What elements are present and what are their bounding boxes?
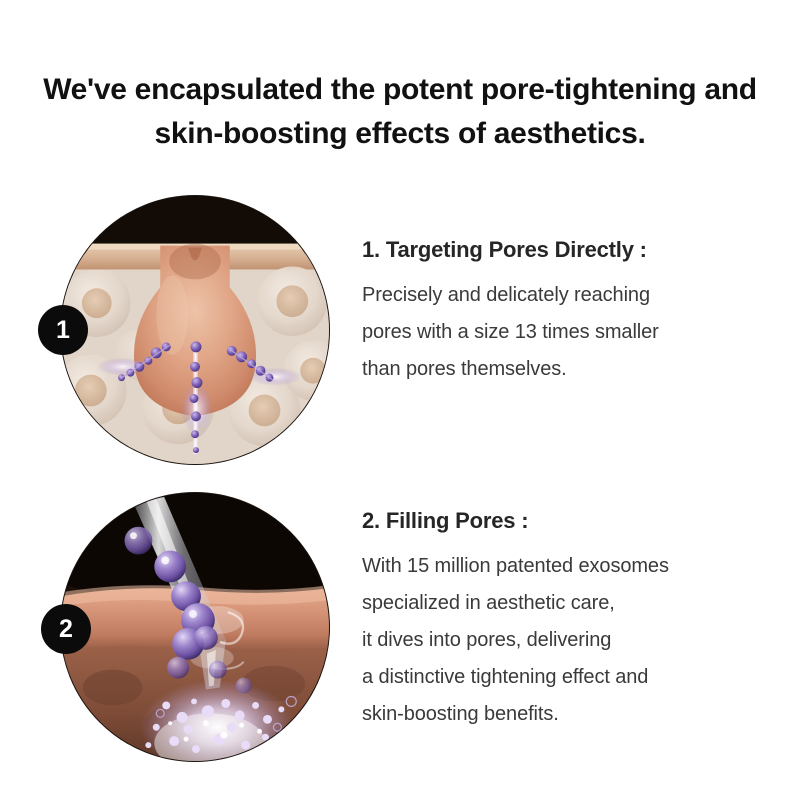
step-2-photo	[60, 492, 330, 762]
step-2-body-line-1: With 15 million patented exosomes	[362, 548, 782, 585]
pore-targeting-illustration	[61, 196, 329, 464]
step-1-media: 1	[60, 195, 332, 467]
step-1-photo	[60, 195, 330, 465]
step-2-body-line-4: a distinctive tightening effect and	[362, 659, 782, 696]
step-row-2: 2 2. Filling Pores : With 15 million pat…	[0, 492, 800, 767]
step-1-text: 1. Targeting Pores Directly : Precisely …	[362, 237, 782, 388]
step-1-body-line-1: Precisely and delicately reaching	[362, 277, 782, 314]
step-2-title: 2. Filling Pores :	[362, 508, 782, 534]
step-2-text: 2. Filling Pores : With 15 million paten…	[362, 508, 782, 733]
page-headline: We've encapsulated the potent pore-tight…	[0, 68, 800, 156]
headline-line-2: skin-boosting effects of aesthetics.	[0, 112, 800, 156]
step-1-body: Precisely and delicately reaching pores …	[362, 277, 782, 388]
step-2-media: 2	[60, 492, 332, 764]
step-2-body-line-2: specialized in aesthetic care,	[362, 585, 782, 622]
step-2-body-line-5: skin-boosting benefits.	[362, 696, 782, 733]
step-1-badge: 1	[38, 305, 88, 355]
step-row-1: 1 1. Targeting Pores Directly : Precisel…	[0, 195, 800, 470]
pore-filling-illustration	[61, 493, 329, 761]
step-2-body: With 15 million patented exosomes specia…	[362, 548, 782, 733]
headline-line-1: We've encapsulated the potent pore-tight…	[0, 68, 800, 112]
step-1-body-line-2: pores with a size 13 times smaller	[362, 314, 782, 351]
step-1-body-line-3: than pores themselves.	[362, 351, 782, 388]
step-1-title: 1. Targeting Pores Directly :	[362, 237, 782, 263]
step-2-badge: 2	[41, 604, 91, 654]
step-2-body-line-3: it dives into pores, delivering	[362, 622, 782, 659]
